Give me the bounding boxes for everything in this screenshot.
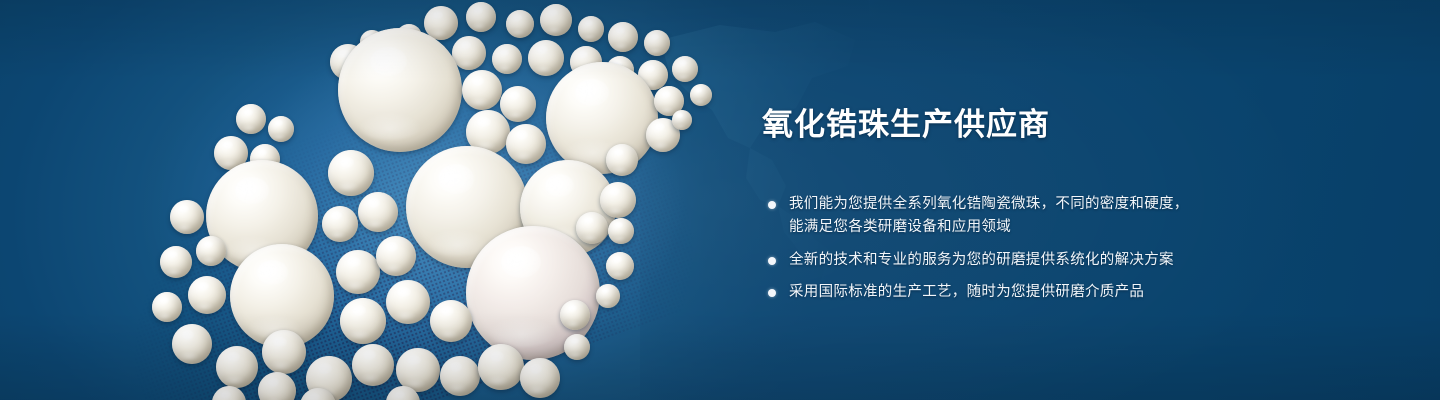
product-hero-banner: 氧化锆珠生产供应商 我们能为您提供全系列氧化锆陶瓷微珠，不同的密度和硬度， 能满… bbox=[0, 0, 1440, 400]
banner-feature-list: 我们能为您提供全系列氧化锆陶瓷微珠，不同的密度和硬度， 能满足您各类研磨设备和应… bbox=[762, 193, 1282, 305]
feature-line: 全新的技术和专业的服务为您的研磨提供系统化的解决方案 bbox=[789, 249, 1282, 272]
bullet-dot-icon bbox=[768, 289, 776, 297]
bullet-dot-icon bbox=[768, 201, 776, 209]
bullet-dot-icon bbox=[768, 257, 776, 265]
banner-headline: 氧化锆珠生产供应商 bbox=[762, 108, 1282, 143]
feature-list-item: 全新的技术和专业的服务为您的研磨提供系统化的解决方案 bbox=[762, 249, 1282, 272]
banner-text-content: 氧化锆珠生产供应商 我们能为您提供全系列氧化锆陶瓷微珠，不同的密度和硬度， 能满… bbox=[762, 108, 1282, 305]
feature-line: 采用国际标准的生产工艺，随时为您提供研磨介质产品 bbox=[789, 281, 1282, 304]
feature-list-item: 我们能为您提供全系列氧化锆陶瓷微珠，不同的密度和硬度， 能满足您各类研磨设备和应… bbox=[762, 193, 1282, 240]
feature-line: 我们能为您提供全系列氧化锆陶瓷微珠，不同的密度和硬度， bbox=[789, 193, 1282, 216]
feature-list-item: 采用国际标准的生产工艺，随时为您提供研磨介质产品 bbox=[762, 281, 1282, 304]
feature-line: 能满足您各类研磨设备和应用领域 bbox=[789, 216, 1282, 239]
